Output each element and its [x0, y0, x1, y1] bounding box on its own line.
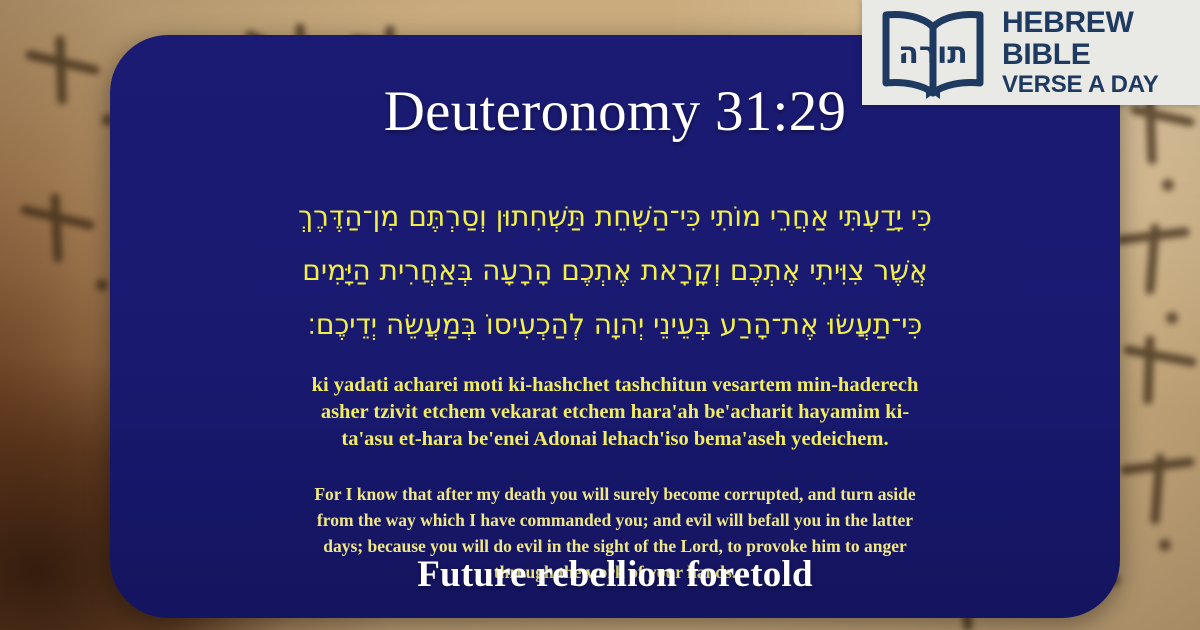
english-line: For I know that after my death you will … [206, 481, 1024, 507]
hebrew-verse-text: כִּי יָדַעְתִּי אַחֲרֵי מוֹתִי כִּי־הַשְ… [152, 190, 1078, 352]
transliteration-line: ta'asu et-hara be'enei Adonai lehach'iso… [150, 426, 1080, 453]
transliteration-line: asher tzivit etchem vekarat etchem hara'… [150, 399, 1080, 426]
transliteration-line: ki yadati acharei moti ki-hashchet tashc… [150, 372, 1080, 399]
verse-image-canvas: Deuteronomy 31:29 כִּי יָדַעְתִּי אַחֲרֵ… [0, 0, 1200, 630]
brand-logo-text: HEBREW BIBLE VERSE A DAY [1002, 8, 1159, 97]
hebrew-line: כִּי־תַעֲשׂוּ אֶת־הָרַע בְּעֵינֵי יְהוָה… [152, 298, 1078, 352]
brand-line-2: BIBLE [1002, 40, 1159, 70]
transliteration-text: ki yadati acharei moti ki-hashchet tashc… [150, 372, 1080, 453]
svg-text:תורה: תורה [898, 36, 967, 71]
brand-line-3: VERSE A DAY [1002, 73, 1159, 97]
brand-line-1: HEBREW [1002, 8, 1159, 38]
verse-card: Deuteronomy 31:29 כִּי יָדַעְתִּי אַחֲרֵ… [110, 35, 1120, 618]
brand-logo: תורה HEBREW BIBLE VERSE A DAY [862, 0, 1200, 105]
hebrew-line: כִּי יָדַעְתִּי אַחֲרֵי מוֹתִי כִּי־הַשְ… [152, 190, 1078, 244]
english-line: from the way which I have commanded you;… [206, 507, 1024, 533]
hebrew-line: אֲשֶׁר צִוִּיתִי אֶתְכֶם וְקָרָאת אֶתְכֶ… [152, 244, 1078, 298]
open-book-torah-icon: תורה [874, 7, 992, 99]
verse-theme-caption: Future rebellion foretold [110, 553, 1120, 596]
